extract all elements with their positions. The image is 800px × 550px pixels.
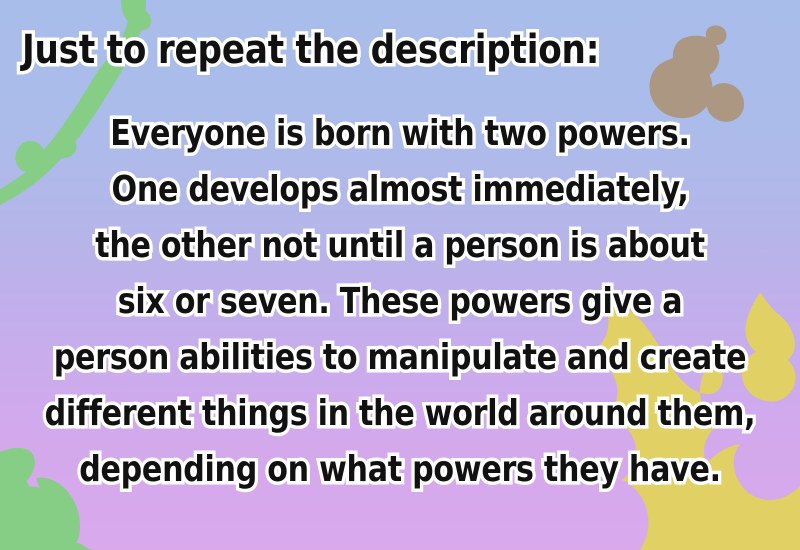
image-canvas: Just to repeat the description: Everyone… — [0, 0, 800, 550]
caption-body-line: One develops almost immediately, — [28, 162, 772, 218]
caption-body-line: depending on what powers they have. — [28, 442, 772, 498]
caption-text-layer: Just to repeat the description: Everyone… — [0, 0, 800, 550]
caption-body-line: six or seven. These powers give a — [28, 274, 772, 330]
caption-body-line: Everyone is born with two powers. — [28, 106, 772, 162]
caption-body-line: the other not until a person is about — [28, 218, 772, 274]
caption-body: Everyone is born with two powers. One de… — [0, 106, 800, 498]
caption-title: Just to repeat the description: — [22, 26, 599, 74]
caption-body-line: different things in the world around the… — [28, 386, 772, 442]
caption-body-line: person abilities to manipulate and creat… — [28, 330, 772, 386]
